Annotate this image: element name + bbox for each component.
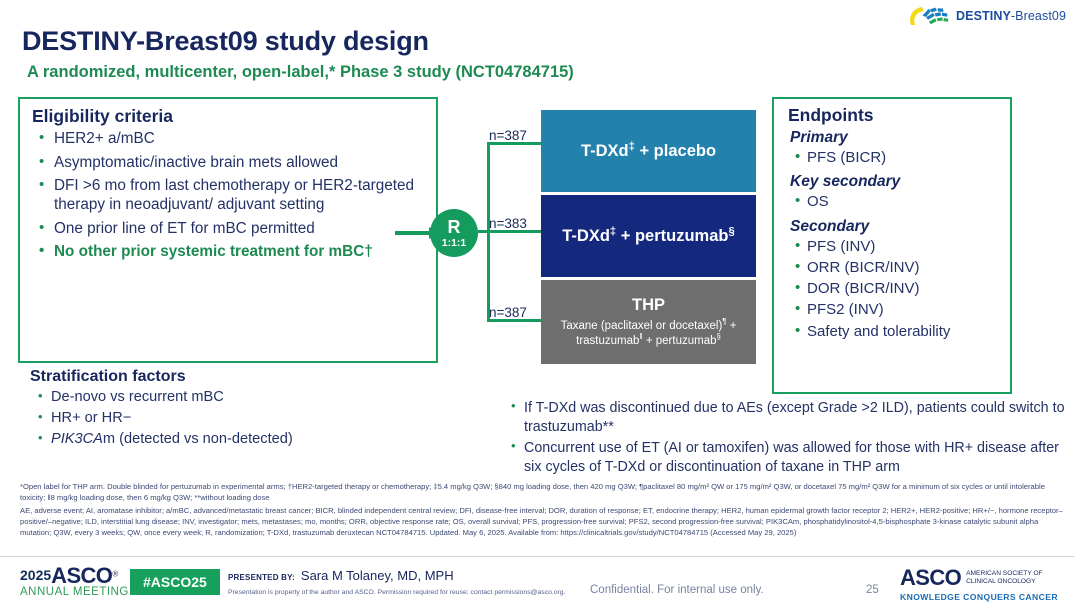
page-number: 25 bbox=[866, 584, 879, 596]
list-item: DOR (BICR/INV) bbox=[790, 280, 1010, 298]
asco-annual-meeting-logo: 2025ASCO® ANNUAL MEETING bbox=[20, 563, 129, 598]
destiny-breast09-logo-icon bbox=[908, 4, 950, 28]
list-item: HER2+ a/mBC bbox=[34, 130, 436, 149]
eligibility-heading: Eligibility criteria bbox=[32, 106, 436, 127]
randomization-node: R 1:1:1 bbox=[430, 209, 478, 257]
randomization-label: R bbox=[448, 218, 461, 236]
list-item: Concurrent use of ET (AI or tamoxifen) w… bbox=[508, 439, 1068, 476]
endpoints-box: Endpoints Primary PFS (BICR) Key seconda… bbox=[772, 97, 1012, 394]
logo-text-thin: -Breast09 bbox=[1011, 9, 1066, 23]
asco-wordmark: ASCO bbox=[900, 565, 961, 591]
randomization-ratio: 1:1:1 bbox=[442, 238, 467, 249]
list-item: DFI >6 mo from last chemotherapy or HER2… bbox=[34, 177, 436, 214]
list-item: PFS (INV) bbox=[790, 238, 1010, 256]
gene-suffix: m (detected vs non-detected) bbox=[103, 431, 293, 447]
list-item: PFS2 (INV) bbox=[790, 301, 1010, 319]
eligibility-criteria-box: Eligibility criteria HER2+ a/mBC Asympto… bbox=[18, 97, 438, 363]
endpoints-key-secondary-label: Key secondary bbox=[790, 173, 1010, 191]
asco-wordmark: ASCO bbox=[51, 563, 112, 588]
eligibility-list: HER2+ a/mBC Asymptomatic/inactive brain … bbox=[20, 130, 436, 262]
permission-text: Presentation is property of the author a… bbox=[228, 589, 565, 596]
treatment-arm-3: THP Taxane (paclitaxel or docetaxel)¶ + … bbox=[541, 280, 756, 364]
endpoints-secondary-label: Secondary bbox=[790, 218, 1010, 236]
list-item: No other prior systemic treatment for mB… bbox=[34, 243, 436, 262]
page-title: DESTINY-Breast09 study design bbox=[22, 26, 429, 57]
page-subtitle: A randomized, multicenter, open-label,* … bbox=[27, 63, 574, 82]
stratification-list: De-novo vs recurrent mBC HR+ or HR− PIK3… bbox=[26, 389, 446, 448]
slide: DESTINY-Breast09 DESTINY-Breast09 study … bbox=[0, 0, 1074, 607]
endpoints-heading: Endpoints bbox=[788, 105, 1010, 126]
list-item: One prior line of ET for mBC permitted bbox=[34, 220, 436, 239]
footnote-abbreviations: AE, adverse event; AI, aromatase inhibit… bbox=[20, 505, 1064, 538]
footnote-source-text: NCT04784715. Updated. May 6, 2025. Avail… bbox=[376, 528, 796, 537]
hashtag-badge: #ASCO25 bbox=[130, 569, 220, 595]
list-item: If T-DXd was discontinued due to AEs (ex… bbox=[508, 399, 1068, 436]
arm-n-label: n=387 bbox=[489, 128, 527, 143]
randomization-bracket bbox=[478, 142, 545, 322]
list-item: PIK3CAm (detected vs non-detected) bbox=[32, 431, 446, 449]
arm-subtitle: Taxane (paclitaxel or docetaxel)¶ + tras… bbox=[541, 319, 756, 349]
randomization-arrow-icon bbox=[395, 231, 435, 235]
treatment-arm-2: T-DXd‡ + pertuzumab§ bbox=[541, 195, 756, 277]
endpoints-primary-label: Primary bbox=[790, 129, 1010, 147]
arm-n-label: n=387 bbox=[489, 305, 527, 320]
presented-by-label: PRESENTED BY: bbox=[228, 573, 295, 582]
list-item: ORR (BICR/INV) bbox=[790, 259, 1010, 277]
list-item: PFS (BICR) bbox=[790, 149, 1010, 167]
footer-year: 2025 bbox=[20, 567, 51, 583]
logo-text-bold: DESTINY bbox=[956, 9, 1011, 23]
list-item: Safety and tolerability bbox=[790, 323, 1010, 341]
list-item: De-novo vs recurrent mBC bbox=[32, 389, 446, 407]
list-item: OS bbox=[790, 193, 1010, 211]
arm-title: T-DXd‡ + placebo bbox=[581, 142, 716, 161]
list-item: HR+ or HR− bbox=[32, 410, 446, 428]
arm-n-label: n=383 bbox=[489, 216, 527, 231]
asco-logo: ASCOAMERICAN SOCIETY OFCLINICAL ONCOLOGY… bbox=[900, 565, 1058, 602]
presenter-name: Sara M Tolaney, MD, MPH bbox=[301, 568, 454, 583]
slide-footer: 2025ASCO® ANNUAL MEETING #ASCO25 PRESENT… bbox=[0, 556, 1074, 608]
study-notes-list: If T-DXd was discontinued due to AEs (ex… bbox=[508, 399, 1068, 476]
logo-text: DESTINY-Breast09 bbox=[956, 9, 1066, 23]
arm-title: THP bbox=[632, 296, 665, 315]
stratification-factors: Stratification factors De-novo vs recurr… bbox=[26, 368, 446, 451]
presenter-block: PRESENTED BY:Sara M Tolaney, MD, MPH Pre… bbox=[228, 567, 565, 596]
stratification-heading: Stratification factors bbox=[30, 368, 446, 386]
list-item: Asymptomatic/inactive brain mets allowed bbox=[34, 154, 436, 173]
asco-tagline: KNOWLEDGE CONQUERS CANCER bbox=[900, 592, 1058, 602]
destiny-breast09-logo: DESTINY-Breast09 bbox=[908, 4, 1066, 28]
arm-title: T-DXd‡ + pertuzumab§ bbox=[562, 227, 734, 246]
society-name: AMERICAN SOCIETY OFCLINICAL ONCOLOGY bbox=[966, 570, 1042, 586]
gene-name: PIK3CA bbox=[51, 431, 103, 447]
annual-meeting-label: ANNUAL MEETING bbox=[20, 586, 129, 598]
registered-mark-icon: ® bbox=[112, 570, 118, 579]
confidential-notice: Confidential. For internal use only. bbox=[590, 584, 764, 596]
footnote-symbols: *Open label for THP arm. Double blinded … bbox=[20, 481, 1064, 503]
treatment-arm-1: T-DXd‡ + placebo bbox=[541, 110, 756, 192]
study-notes: If T-DXd was discontinued due to AEs (ex… bbox=[508, 399, 1068, 479]
endpoints-primary-list: PFS (BICR) bbox=[774, 149, 1010, 167]
endpoints-secondary-list: PFS (INV) ORR (BICR/INV) DOR (BICR/INV) … bbox=[774, 238, 1010, 341]
endpoints-key-secondary-list: OS bbox=[774, 193, 1010, 211]
